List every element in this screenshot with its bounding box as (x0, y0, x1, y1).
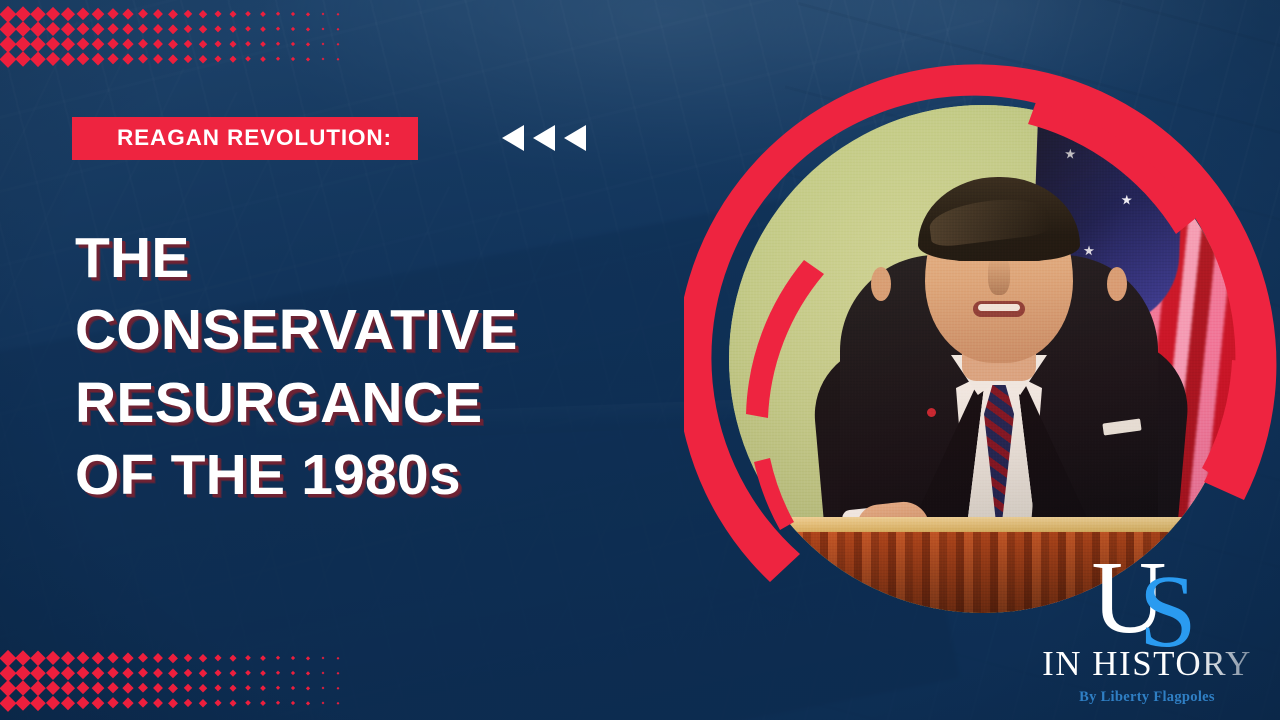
halftone-dot (91, 651, 103, 663)
arrow-group (502, 125, 586, 151)
halftone-dot (153, 24, 163, 34)
halftone-dot (183, 698, 192, 707)
halftone-dot (306, 27, 310, 31)
halftone-dot (122, 652, 133, 663)
halftone-dot (153, 683, 163, 693)
halftone-dot (321, 656, 324, 659)
halftone-dot (260, 685, 265, 690)
halftone-dot (61, 681, 75, 695)
headline-line: THE (75, 222, 675, 294)
halftone-dot (107, 8, 119, 20)
halftone-dot (244, 25, 250, 31)
halftone-dot (229, 669, 236, 676)
halftone-dot (290, 685, 294, 689)
halftone-dot (183, 39, 192, 48)
halftone-dot (275, 685, 280, 690)
halftone-dot (214, 55, 221, 62)
halftone-dot (107, 682, 119, 694)
halftone-dot (45, 6, 59, 20)
halftone-dot (244, 699, 250, 705)
halftone-dot (244, 684, 250, 690)
halftone-dot (306, 671, 310, 675)
halftone-dot (244, 40, 250, 46)
halftone-dot (199, 684, 207, 692)
halftone-dot (122, 682, 133, 693)
halftone-row (0, 36, 340, 51)
eyebrow-badge: REAGAN REVOLUTION: (72, 117, 418, 160)
halftone-dot (91, 681, 103, 693)
halftone-dot (168, 683, 177, 692)
halftone-dot (229, 684, 236, 691)
halftone-pattern-bottom-left (0, 650, 340, 710)
halftone-dot (321, 57, 324, 60)
halftone-dot (199, 699, 207, 707)
headline-line: CONSERVATIVE (75, 294, 675, 366)
halftone-dot (199, 55, 207, 63)
halftone-dot (76, 7, 89, 20)
halftone-dot (229, 40, 236, 47)
halftone-dot (91, 666, 103, 678)
halftone-dot (153, 698, 163, 708)
halftone-dot (137, 53, 148, 64)
halftone-dot (15, 650, 31, 666)
halftone-dot (275, 11, 280, 16)
headline-line: OF THE 1980s (75, 439, 675, 511)
halftone-dot (183, 668, 192, 677)
halftone-dot (290, 26, 294, 30)
halftone-row (0, 6, 340, 21)
halftone-dot (0, 5, 16, 21)
halftone-dot (336, 686, 338, 688)
halftone-dot (61, 696, 75, 710)
halftone-dot (199, 10, 207, 18)
page-title: THE CONSERVATIVE RESURGANCE OF THE 1980s (75, 222, 675, 512)
halftone-pattern-top-left (0, 6, 340, 66)
halftone-dot (306, 686, 310, 690)
halftone-dot (183, 54, 192, 63)
halftone-dot (168, 668, 177, 677)
halftone-dot (260, 56, 265, 61)
halftone-dot (15, 51, 31, 67)
halftone-dot (275, 26, 280, 31)
halftone-dot (290, 41, 294, 45)
halftone-dot (290, 700, 294, 704)
halftone-dot (153, 668, 163, 678)
halftone-dot (153, 54, 163, 64)
halftone-dot (122, 667, 133, 678)
halftone-dot (336, 656, 338, 658)
eyebrow-label: REAGAN REVOLUTION: (117, 127, 392, 150)
halftone-dot (61, 52, 75, 66)
halftone-dot (107, 697, 119, 709)
halftone-dot (321, 671, 324, 674)
halftone-dot (91, 7, 103, 19)
halftone-dot (321, 686, 324, 689)
halftone-dot (137, 8, 148, 19)
halftone-dot (168, 54, 177, 63)
halftone-dot (61, 666, 75, 680)
halftone-dot (122, 8, 133, 19)
halftone-dot (275, 700, 280, 705)
halftone-dot (336, 42, 338, 44)
halftone-dot (30, 36, 45, 51)
halftone-dot (153, 39, 163, 49)
halftone-dot (244, 55, 250, 61)
halftone-dot (76, 22, 89, 35)
halftone-dot (30, 680, 45, 695)
halftone-dot (15, 36, 31, 52)
halftone-dot (229, 699, 236, 706)
halftone-dot (122, 23, 133, 34)
halftone-dot (15, 680, 31, 696)
halftone-dot (168, 698, 177, 707)
halftone-dot (0, 35, 16, 51)
halftone-dot (107, 23, 119, 35)
halftone-dot (0, 50, 16, 66)
logo-byline: By Liberty Flagpoles (1042, 690, 1252, 705)
halftone-dot (290, 11, 294, 15)
halftone-dot (107, 38, 119, 50)
halftone-dot (61, 651, 75, 665)
halftone-dot (199, 25, 207, 33)
halftone-dot (183, 24, 192, 33)
halftone-dot (229, 25, 236, 32)
halftone-dot (229, 10, 236, 17)
halftone-dot (260, 11, 265, 16)
halftone-dot (260, 41, 265, 46)
halftone-dot (61, 37, 75, 51)
halftone-dot (336, 57, 338, 59)
halftone-row (0, 665, 340, 680)
halftone-dot (30, 51, 45, 66)
halftone-dot (306, 42, 310, 46)
halftone-dot (91, 52, 103, 64)
halftone-dot (45, 650, 59, 664)
halftone-dot (0, 649, 16, 665)
halftone-dot (15, 21, 31, 37)
halftone-dot (214, 10, 221, 17)
halftone-dot (199, 40, 207, 48)
halftone-dot (76, 651, 89, 664)
halftone-row (0, 21, 340, 36)
halftone-dot (122, 697, 133, 708)
halftone-dot (306, 701, 310, 705)
halftone-dot (76, 52, 89, 65)
halftone-dot (153, 653, 163, 663)
halftone-dot (107, 53, 119, 65)
halftone-dot (137, 38, 148, 49)
halftone-dot (321, 27, 324, 30)
halftone-dot (336, 671, 338, 673)
halftone-dot (214, 669, 221, 676)
halftone-dot (76, 681, 89, 694)
halftone-dot (229, 55, 236, 62)
halftone-dot (260, 700, 265, 705)
halftone-dot (214, 25, 221, 32)
triangle-left-icon (533, 125, 555, 151)
halftone-row (0, 650, 340, 665)
halftone-dot (45, 665, 59, 679)
halftone-dot (229, 654, 236, 661)
halftone-dot (137, 23, 148, 34)
halftone-dot (336, 27, 338, 29)
halftone-dot (0, 20, 16, 36)
halftone-dot (290, 56, 294, 60)
halftone-dot (0, 679, 16, 695)
halftone-dot (336, 12, 338, 14)
halftone-dot (0, 694, 16, 710)
halftone-dot (260, 655, 265, 660)
halftone-dot (45, 680, 59, 694)
halftone-dot (306, 12, 310, 16)
halftone-dot (260, 26, 265, 31)
halftone-dot (122, 38, 133, 49)
halftone-dot (168, 653, 177, 662)
halftone-dot (275, 41, 280, 46)
halftone-dot (45, 695, 59, 709)
halftone-dot (336, 701, 338, 703)
halftone-row (0, 680, 340, 695)
halftone-dot (306, 57, 310, 61)
halftone-dot (30, 650, 45, 665)
triangle-left-icon (502, 125, 524, 151)
halftone-dot (244, 669, 250, 675)
halftone-dot (183, 653, 192, 662)
halftone-dot (244, 10, 250, 16)
halftone-dot (168, 24, 177, 33)
halftone-dot (91, 696, 103, 708)
halftone-dot (199, 669, 207, 677)
halftone-dot (15, 665, 31, 681)
halftone-dot (137, 652, 148, 663)
triangle-left-icon (564, 125, 586, 151)
halftone-dot (45, 21, 59, 35)
halftone-dot (244, 654, 250, 660)
halftone-dot (30, 21, 45, 36)
brand-logo: U S IN HISTORY By Liberty Flagpoles (1042, 546, 1252, 706)
halftone-dot (275, 670, 280, 675)
halftone-dot (0, 664, 16, 680)
halftone-dot (122, 53, 133, 64)
halftone-dot (214, 699, 221, 706)
halftone-dot (30, 695, 45, 710)
halftone-dot (183, 683, 192, 692)
halftone-dot (61, 22, 75, 36)
halftone-dot (214, 654, 221, 661)
halftone-dot (306, 656, 310, 660)
halftone-dot (199, 654, 207, 662)
halftone-row (0, 51, 340, 66)
halftone-dot (107, 652, 119, 664)
halftone-dot (30, 665, 45, 680)
halftone-row (0, 695, 340, 710)
halftone-dot (76, 37, 89, 50)
halftone-dot (107, 667, 119, 679)
halftone-dot (91, 37, 103, 49)
halftone-dot (275, 56, 280, 61)
halftone-dot (91, 22, 103, 34)
halftone-dot (15, 6, 31, 22)
halftone-dot (76, 666, 89, 679)
slide-canvas: REAGAN REVOLUTION: THE CONSERVATIVE RESU… (0, 0, 1280, 720)
halftone-dot (137, 667, 148, 678)
halftone-dot (137, 682, 148, 693)
halftone-dot (153, 9, 163, 19)
halftone-dot (137, 697, 148, 708)
halftone-dot (76, 696, 89, 709)
halftone-dot (183, 9, 192, 18)
halftone-dot (168, 39, 177, 48)
halftone-dot (214, 684, 221, 691)
halftone-dot (321, 701, 324, 704)
halftone-dot (275, 655, 280, 660)
halftone-dot (45, 51, 59, 65)
halftone-dot (30, 6, 45, 21)
halftone-dot (168, 9, 177, 18)
logo-monogram: U S (1042, 546, 1252, 642)
halftone-dot (61, 7, 75, 21)
halftone-dot (45, 36, 59, 50)
halftone-dot (321, 42, 324, 45)
halftone-dot (15, 695, 31, 711)
halftone-dot (321, 12, 324, 15)
halftone-dot (214, 40, 221, 47)
halftone-dot (260, 670, 265, 675)
logo-name: IN HISTORY (1042, 646, 1252, 681)
headline-line: RESURGANCE (75, 367, 675, 439)
halftone-dot (290, 655, 294, 659)
halftone-dot (290, 670, 294, 674)
